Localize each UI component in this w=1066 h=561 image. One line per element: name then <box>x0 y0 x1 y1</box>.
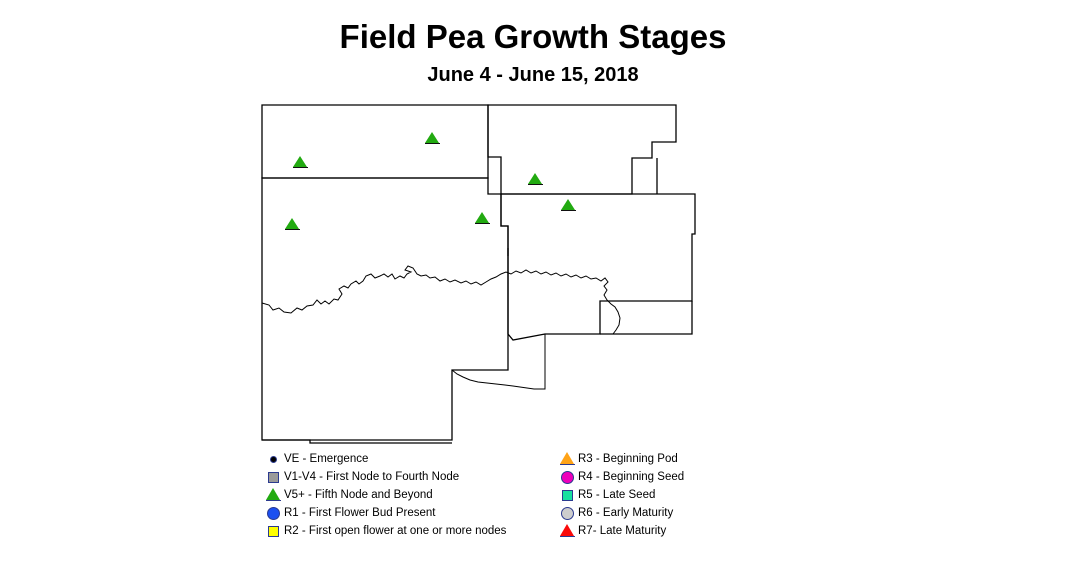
legend-circle-icon <box>561 471 574 484</box>
legend-symbol <box>262 522 284 540</box>
legend-item[interactable]: V1-V4 - First Node to Fourth Node <box>262 468 506 486</box>
river-boundary <box>262 266 620 334</box>
marker-base-line <box>293 167 308 168</box>
legend-dot-icon <box>271 457 276 462</box>
map-marker-v5plus[interactable] <box>425 132 440 144</box>
marker-triangle-icon <box>528 173 542 184</box>
legend-square-icon <box>268 472 279 483</box>
marker-base-line <box>528 184 543 185</box>
legend-circle-icon <box>267 507 280 520</box>
legend-symbol <box>556 522 578 540</box>
legend-triangle-icon <box>560 452 575 466</box>
marker-base-line <box>475 223 490 224</box>
map-marker-v5plus[interactable] <box>475 212 490 224</box>
legend-circle-icon <box>561 507 574 520</box>
legend-item[interactable]: R7- Late Maturity <box>556 522 684 540</box>
legend-symbol <box>262 504 284 522</box>
map-marker-v5plus[interactable] <box>561 199 576 211</box>
legend-square-icon <box>562 490 573 501</box>
legend-item-label: R2 - First open flower at one or more no… <box>284 522 506 540</box>
map-marker-v5plus[interactable] <box>528 173 543 185</box>
legend-symbol <box>556 468 578 486</box>
legend-item[interactable]: R4 - Beginning Seed <box>556 468 684 486</box>
legend-triangle-icon <box>266 488 281 502</box>
legend-item[interactable]: V5+ - Fifth Node and Beyond <box>262 486 506 504</box>
legend-square-icon <box>268 526 279 537</box>
marker-triangle-icon <box>475 212 489 223</box>
boundary-northeast-block <box>488 105 676 194</box>
marker-triangle-icon <box>425 132 439 143</box>
legend-item[interactable]: R3 - Beginning Pod <box>556 450 684 468</box>
legend-item-label: R6 - Early Maturity <box>578 504 673 522</box>
region-map <box>255 98 715 448</box>
page-subtitle: June 4 - June 15, 2018 <box>0 64 1066 87</box>
legend-symbol <box>262 450 284 468</box>
legend-symbol <box>556 504 578 522</box>
legend-item-label: R7- Late Maturity <box>578 522 666 540</box>
legend-item-label: V1-V4 - First Node to Fourth Node <box>284 468 459 486</box>
legend-symbol <box>262 468 284 486</box>
legend-item-label: R4 - Beginning Seed <box>578 468 684 486</box>
legend-item[interactable]: R1 - First Flower Bud Present <box>262 504 506 522</box>
map-marker-v5plus[interactable] <box>293 156 308 168</box>
legend-symbol <box>262 486 284 504</box>
legend-item-label: VE - Emergence <box>284 450 368 468</box>
boundary-east-block <box>501 194 695 340</box>
legend-column-left: VE - EmergenceV1-V4 - First Node to Four… <box>262 450 506 540</box>
marker-triangle-icon <box>293 156 307 167</box>
page-title: Field Pea Growth Stages <box>0 18 1066 56</box>
legend-item[interactable]: VE - Emergence <box>262 450 506 468</box>
southeast-boundary <box>452 334 545 389</box>
marker-base-line <box>425 143 440 144</box>
legend-item[interactable]: R5 - Late Seed <box>556 486 684 504</box>
legend-item-label: R1 - First Flower Bud Present <box>284 504 435 522</box>
legend-item[interactable]: R6 - Early Maturity <box>556 504 684 522</box>
legend-column-right: R3 - Beginning PodR4 - Beginning SeedR5 … <box>556 450 684 540</box>
map-container <box>255 98 715 448</box>
legend-symbol <box>556 486 578 504</box>
legend-item-label: R5 - Late Seed <box>578 486 655 504</box>
marker-triangle-icon <box>285 218 299 229</box>
marker-base-line <box>561 210 576 211</box>
field-pea-growth-stages-map-page: Field Pea Growth Stages June 4 - June 15… <box>0 0 1066 561</box>
legend-item-label: R3 - Beginning Pod <box>578 450 678 468</box>
legend-item-label: V5+ - Fifth Node and Beyond <box>284 486 433 504</box>
map-boundaries <box>262 105 695 443</box>
marker-triangle-icon <box>561 199 575 210</box>
legend-triangle-icon <box>560 524 575 538</box>
legend-item[interactable]: R2 - First open flower at one or more no… <box>262 522 506 540</box>
legend-symbol <box>556 450 578 468</box>
map-marker-v5plus[interactable] <box>285 218 300 230</box>
marker-base-line <box>285 229 300 230</box>
